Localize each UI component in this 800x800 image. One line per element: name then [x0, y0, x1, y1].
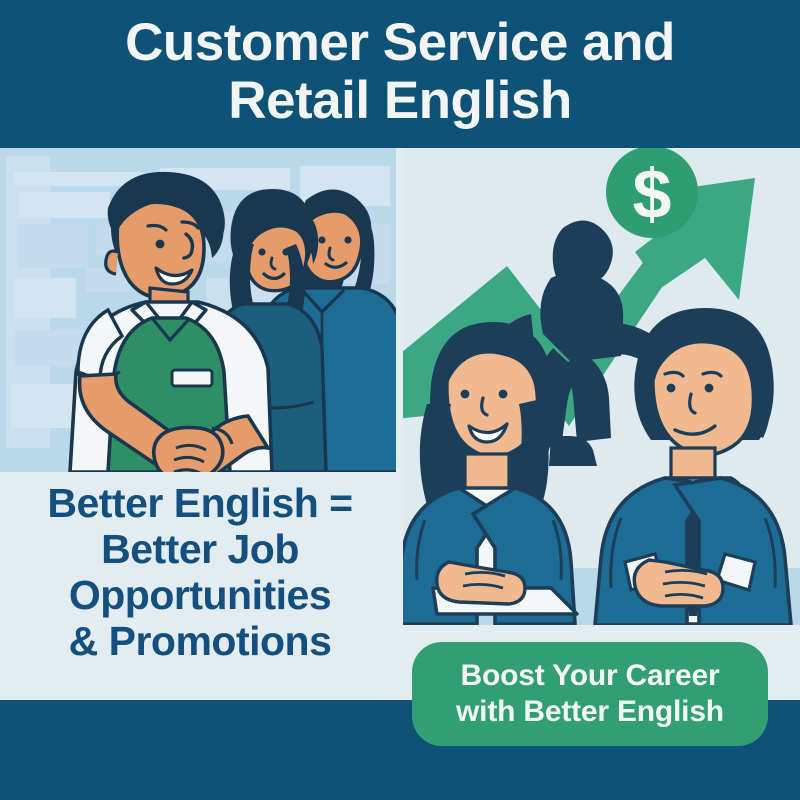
name-badge-icon [172, 370, 212, 386]
dollar-coin-icon: $ [606, 148, 698, 238]
page-title: Customer Service and Retail English [0, 14, 800, 130]
career-growth-illustration: $ [403, 148, 800, 625]
right-illustration-panel: $ [403, 148, 800, 625]
poster-canvas: $ [0, 0, 800, 800]
left-illustration-panel [0, 148, 396, 472]
headline-block: Better English = Better Job Opportunitie… [0, 480, 400, 670]
svg-text:$: $ [633, 155, 672, 233]
cta-label: Boost Your Career with Better English [456, 658, 724, 730]
retail-handshake-illustration [0, 148, 396, 472]
boost-career-cta-button[interactable]: Boost Your Career with Better English [412, 642, 768, 746]
header-banner: Customer Service and Retail English [0, 0, 800, 148]
headline-text: Better English = Better Job Opportunitie… [47, 480, 352, 664]
